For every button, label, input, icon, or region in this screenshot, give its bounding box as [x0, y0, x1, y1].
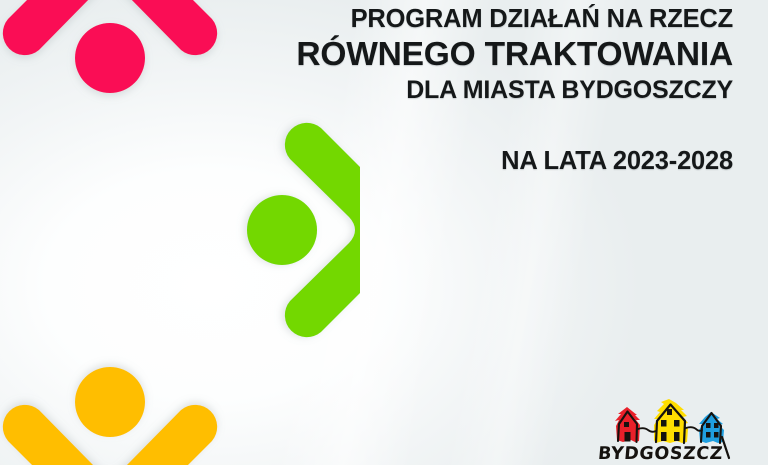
- logo-connector-left: [638, 428, 656, 432]
- bydgoszcz-city-logo: BYDGOSZCZ: [598, 397, 750, 463]
- headline-block: PROGRAM DZIAŁAŃ NA RZECZ RÓWNEGO TRAKTOW…: [263, 6, 733, 175]
- headline-years: NA LATA 2023-2028: [263, 148, 733, 176]
- bydgoszcz-wordmark: BYDGOSZCZ: [598, 444, 724, 463]
- poster-canvas: PROGRAM DZIAŁAŃ NA RZECZ RÓWNEGO TRAKTOW…: [0, 0, 768, 465]
- red-house-icon: [615, 407, 640, 442]
- headline-line-1: PROGRAM DZIAŁAŃ NA RZECZ: [263, 6, 733, 34]
- headline-line-3: DLA MIASTA BYDGOSZCZY: [263, 77, 733, 104]
- figure-bottom-orange: [3, 367, 217, 465]
- figure-top-pink: [3, 0, 217, 93]
- logo-connector-right: [686, 427, 702, 431]
- yellow-house-icon: [654, 399, 688, 443]
- blue-house-icon: [699, 412, 724, 443]
- headline-line-2: RÓWNEGO TRAKTOWANIA: [263, 37, 733, 73]
